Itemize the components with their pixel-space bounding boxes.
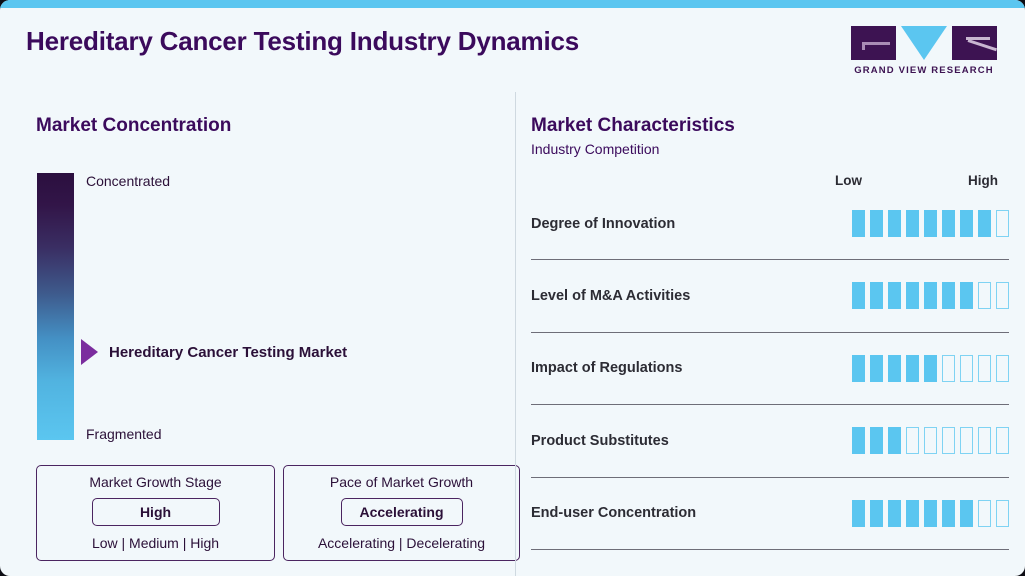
concentration-gradient-scale: Concentrated Fragmented [37, 173, 74, 440]
rating-segment-filled [960, 500, 973, 527]
characteristic-label: Product Substitutes [531, 433, 669, 449]
rating-segment-filled [960, 210, 973, 237]
gradient-bottom-label: Fragmented [86, 426, 161, 442]
row-divider [531, 259, 1009, 260]
pace-of-market-growth-title: Pace of Market Growth [296, 474, 507, 490]
characteristic-rating-bars [846, 427, 1009, 454]
rating-segment-filled [852, 210, 865, 237]
rating-segment-filled [906, 500, 919, 527]
rating-segment-filled [870, 500, 883, 527]
rating-segment-empty [960, 355, 973, 382]
rating-segment-filled [888, 355, 901, 382]
scale-header: Low High [835, 173, 998, 188]
characteristic-label: End-user Concentration [531, 505, 696, 521]
logo-marks [851, 26, 997, 60]
infographic-root: Hereditary Cancer Testing Industry Dynam… [0, 0, 1025, 576]
top-accent-strip [0, 0, 1025, 8]
row-divider [531, 549, 1009, 550]
market-growth-stage-box: Market Growth Stage High Low | Medium | … [36, 465, 275, 561]
market-characteristics-title: Market Characteristics [531, 115, 735, 137]
characteristic-row-inner: Level of M&A Activities [531, 268, 1009, 323]
logo-wordmark: GRAND VIEW RESEARCH [851, 65, 997, 76]
market-concentration-title: Market Concentration [36, 115, 231, 137]
gradient-top-label: Concentrated [86, 173, 170, 189]
characteristic-row: Level of M&A Activities [531, 268, 1009, 340]
characteristic-rating-bars [846, 210, 1009, 237]
rating-segment-filled [978, 210, 991, 237]
scale-high-label: High [968, 173, 998, 188]
page-title: Hereditary Cancer Testing Industry Dynam… [26, 26, 579, 57]
market-characteristics-panel: Market Characteristics Industry Competit… [515, 92, 1025, 576]
rating-segment-filled [870, 282, 883, 309]
market-growth-stage-value: High [92, 498, 220, 526]
rating-segment-filled [924, 210, 937, 237]
r-block-icon [952, 26, 997, 60]
rating-segment-empty [924, 427, 937, 454]
rating-segment-empty [978, 355, 991, 382]
characteristic-row: End-user Concentration [531, 486, 1009, 558]
market-concentration-panel: Market Concentration Concentrated Fragme… [0, 92, 515, 576]
rating-segment-filled [852, 427, 865, 454]
characteristic-rating-bars [846, 355, 1009, 382]
logo: GRAND VIEW RESEARCH [851, 26, 997, 76]
rating-segment-filled [870, 427, 883, 454]
pace-of-market-growth-scale: Accelerating | Decelerating [296, 535, 507, 551]
characteristic-rating-bars [846, 282, 1009, 309]
rating-segment-filled [942, 500, 955, 527]
market-growth-stage-title: Market Growth Stage [49, 474, 262, 490]
stat-boxes: Market Growth Stage High Low | Medium | … [36, 465, 520, 561]
rating-segment-empty [996, 282, 1009, 309]
scale-low-label: Low [835, 173, 862, 188]
characteristic-row-inner: Impact of Regulations [531, 341, 1009, 396]
rating-segment-filled [906, 355, 919, 382]
rating-segment-filled [888, 210, 901, 237]
rating-segment-empty [996, 500, 1009, 527]
row-divider [531, 404, 1009, 405]
rating-segment-filled [942, 210, 955, 237]
rating-segment-empty [978, 500, 991, 527]
rating-segment-empty [960, 427, 973, 454]
row-divider [531, 477, 1009, 478]
rating-segment-filled [888, 427, 901, 454]
rating-segment-filled [852, 500, 865, 527]
characteristic-rating-bars [846, 500, 1009, 527]
characteristic-label: Degree of Innovation [531, 216, 675, 232]
rating-segment-filled [924, 282, 937, 309]
market-position-marker: Hereditary Cancer Testing Market [81, 339, 347, 365]
market-position-label: Hereditary Cancer Testing Market [109, 344, 347, 361]
rating-segment-empty [996, 427, 1009, 454]
characteristic-label: Level of M&A Activities [531, 288, 690, 304]
rating-segment-empty [906, 427, 919, 454]
rating-segment-filled [888, 282, 901, 309]
characteristic-row-inner: Degree of Innovation [531, 196, 1009, 251]
characteristic-row: Degree of Innovation [531, 196, 1009, 268]
rating-segment-filled [870, 210, 883, 237]
rating-segment-empty [942, 427, 955, 454]
rating-segment-empty [942, 355, 955, 382]
rating-segment-filled [924, 500, 937, 527]
rating-segment-filled [942, 282, 955, 309]
rating-segment-filled [888, 500, 901, 527]
row-divider [531, 332, 1009, 333]
rating-segment-filled [852, 282, 865, 309]
g-block-icon [851, 26, 896, 60]
rating-segment-filled [906, 282, 919, 309]
rating-segment-empty [996, 355, 1009, 382]
rating-segment-empty [978, 427, 991, 454]
rating-segment-empty [978, 282, 991, 309]
pace-of-market-growth-box: Pace of Market Growth Accelerating Accel… [283, 465, 520, 561]
gradient-bar [37, 173, 74, 440]
characteristic-row-inner: Product Substitutes [531, 413, 1009, 468]
rating-segment-empty [996, 210, 1009, 237]
rating-segment-filled [924, 355, 937, 382]
rating-segment-filled [906, 210, 919, 237]
arrow-right-icon [81, 339, 98, 365]
characteristic-row: Impact of Regulations [531, 341, 1009, 413]
characteristic-label: Impact of Regulations [531, 360, 682, 376]
characteristic-row: Product Substitutes [531, 413, 1009, 485]
triangle-v-icon [901, 26, 947, 60]
market-characteristics-subtitle: Industry Competition [531, 141, 659, 157]
characteristic-row-inner: End-user Concentration [531, 486, 1009, 541]
rating-segment-filled [870, 355, 883, 382]
rating-segment-filled [960, 282, 973, 309]
rating-segment-filled [852, 355, 865, 382]
pace-of-market-growth-value: Accelerating [341, 498, 463, 526]
market-growth-stage-scale: Low | Medium | High [49, 535, 262, 551]
characteristics-rows: Degree of InnovationLevel of M&A Activit… [531, 196, 1009, 558]
header: Hereditary Cancer Testing Industry Dynam… [0, 8, 1025, 92]
